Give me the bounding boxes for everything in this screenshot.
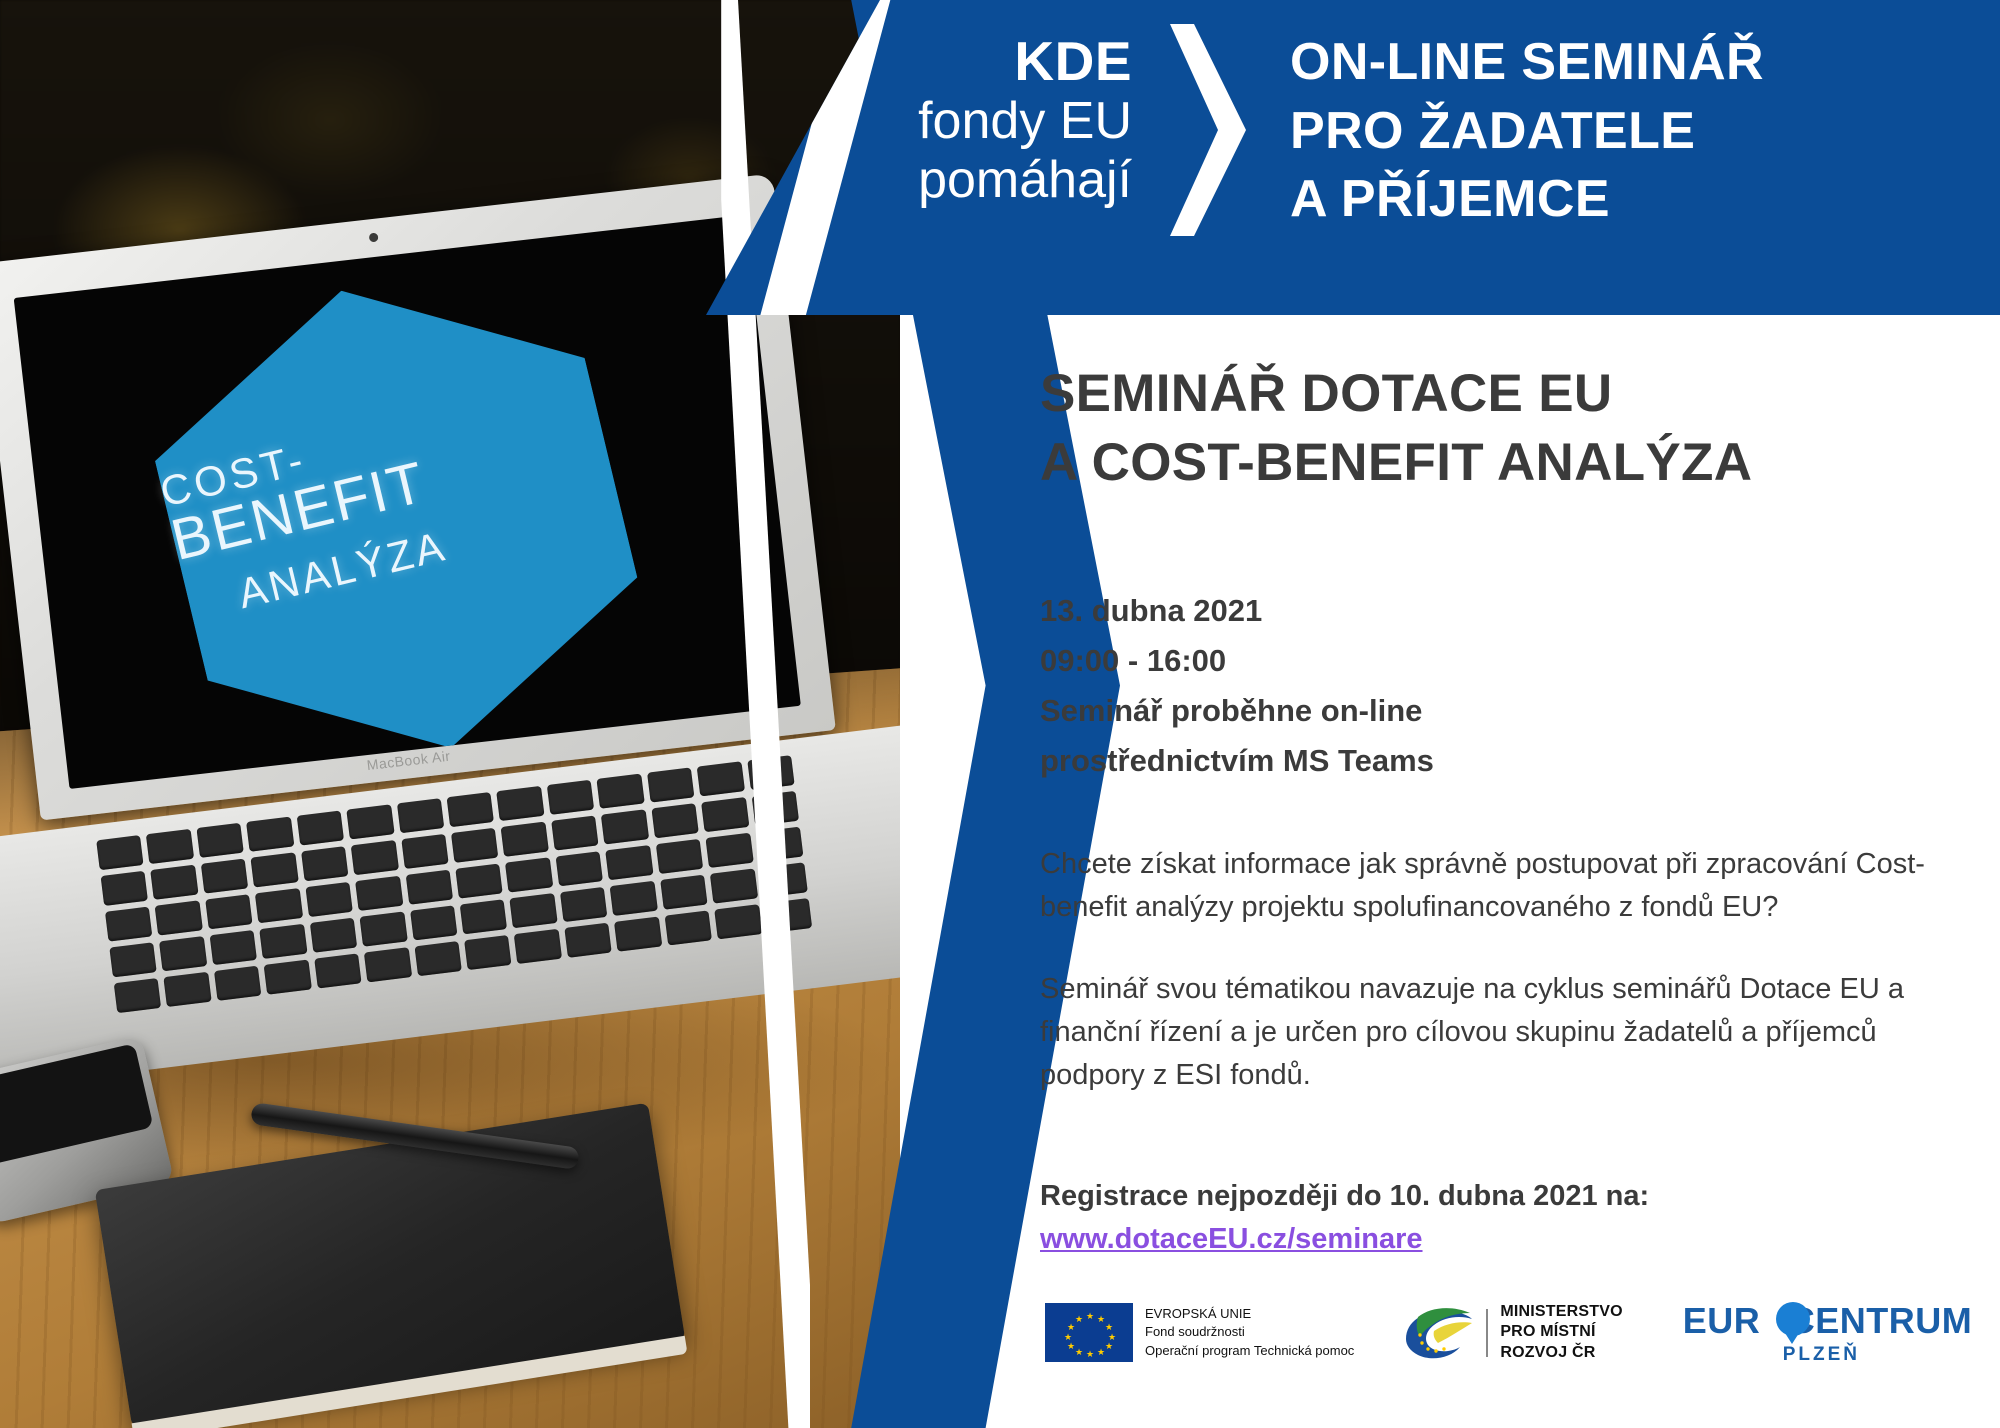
mmr-divider: [1486, 1309, 1488, 1357]
eu-logo-text: EVROPSKÁ UNIE Fond soudržnosti Operační …: [1145, 1305, 1354, 1360]
event-format-line-2: prostřednictvím MS Teams: [1040, 736, 1980, 786]
eu-flag-icon: ★ ★ ★ ★ ★ ★ ★ ★ ★ ★ ★ ★: [1045, 1303, 1133, 1362]
page-title: SEMINÁŘ DOTACE EU A COST-BENEFIT ANALÝZA: [1040, 360, 1980, 498]
event-time: 09:00 - 16:00: [1040, 636, 1980, 686]
laptop-bezel: COST- BENEFIT ANALÝZA MacBook Air: [0, 173, 836, 820]
seminar-line-3: A PŘÍJEMCE: [1290, 165, 1764, 234]
eu-line-2: Fond soudržnosti: [1145, 1323, 1354, 1341]
eurocentrum-part-1: EUR: [1683, 1300, 1761, 1341]
poster-root: COST- BENEFIT ANALÝZA MacBook Air: [0, 0, 2000, 1428]
eurocentrum-wordmark: EUROCENTRUM: [1683, 1300, 1973, 1342]
description-paragraph-2: Seminář svou tématikou navazuje na cyklu…: [1040, 968, 1980, 1097]
mmr-logo-text: MINISTERSTVO PRO MÍSTNÍ ROZVOJ ČR: [1500, 1302, 1622, 1363]
event-details: 13. dubna 2021 09:00 - 16:00 Seminář pro…: [1040, 586, 1980, 787]
event-date: 13. dubna 2021: [1040, 586, 1980, 636]
registration-label: Registrace nejpozději do 10. dubna 2021 …: [1040, 1175, 1980, 1218]
registration-link[interactable]: www.dotaceEU.cz/seminare: [1040, 1218, 1423, 1261]
mmr-swoosh-icon: [1400, 1305, 1474, 1361]
main-content: SEMINÁŘ DOTACE EU A COST-BENEFIT ANALÝZA…: [1040, 360, 1980, 1261]
mmr-line-1: MINISTERSTVO: [1500, 1302, 1622, 1322]
online-seminar-heading: ON-LINE SEMINÁŘ PRO ŽADATELE A PŘÍJEMCE: [1290, 28, 1764, 234]
eu-line-1: EVROPSKÁ UNIE: [1145, 1305, 1354, 1323]
eu-logo: ★ ★ ★ ★ ★ ★ ★ ★ ★ ★ ★ ★ EVROPSKÁ UNIE Fo…: [1045, 1303, 1354, 1362]
seminar-line-1: ON-LINE SEMINÁŘ: [1290, 28, 1764, 97]
title-line-2: A COST-BENEFIT ANALÝZA: [1040, 429, 1980, 498]
chevron-right-icon: [1160, 24, 1246, 236]
mmr-line-2: PRO MÍSTNÍ: [1500, 1322, 1622, 1342]
title-line-1: SEMINÁŘ DOTACE EU: [1040, 360, 1980, 429]
mmr-logo: MINISTERSTVO PRO MÍSTNÍ ROZVOJ ČR: [1400, 1302, 1622, 1363]
eurocentrum-part-2: CENTRUM: [1789, 1300, 1972, 1341]
logo-row: ★ ★ ★ ★ ★ ★ ★ ★ ★ ★ ★ ★ EVROPSKÁ UNIE Fo…: [1045, 1285, 1975, 1380]
kde-label: KDE: [862, 30, 1132, 92]
fondy-eu-label: fondy EU: [862, 92, 1132, 151]
seminar-line-2: PRO ŽADATELE: [1290, 97, 1764, 166]
pomahaji-label: pomáhají: [862, 151, 1132, 210]
mmr-line-3: ROZVOJ ČR: [1500, 1343, 1622, 1363]
eurocentrum-bubble-icon: [1776, 1302, 1810, 1336]
eurocentrum-city-label: PLZEŇ: [1783, 1344, 1973, 1366]
registration-block: Registrace nejpozději do 10. dubna 2021 …: [1040, 1175, 1980, 1261]
eu-line-3: Operační program Technická pomoc: [1145, 1342, 1354, 1360]
laptop-screen: COST- BENEFIT ANALÝZA: [14, 215, 801, 789]
event-format-line-1: Seminář proběhne on-line: [1040, 686, 1980, 736]
eurocentrum-logo: EUROCENTRUM PLZEŇ: [1683, 1300, 1973, 1366]
kde-fondy-eu-block: KDE fondy EU pomáhají: [862, 30, 1132, 210]
description-paragraph-1: Chcete získat informace jak správně post…: [1040, 843, 1980, 929]
